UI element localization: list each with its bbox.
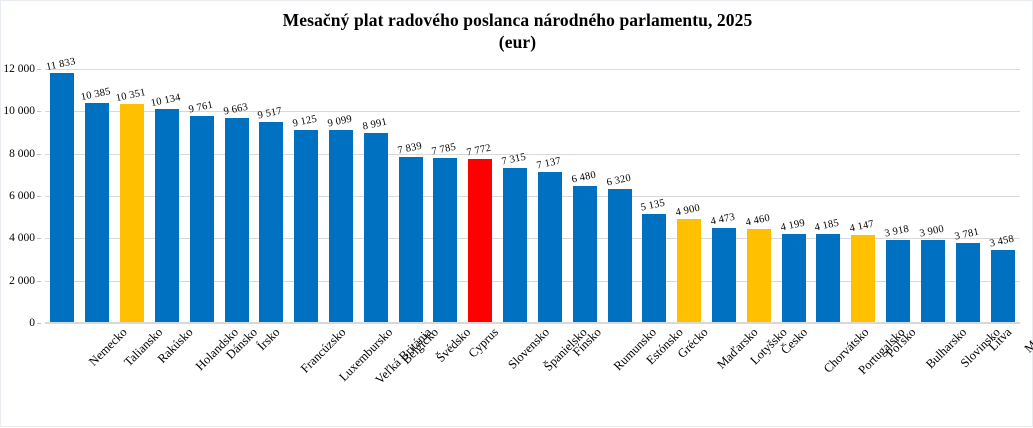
- bar-value-label: 10 351: [115, 87, 147, 104]
- bar-value-label: 4 473: [710, 212, 736, 228]
- y-axis-tick-mark: [37, 111, 41, 112]
- bar-slot: 7 839: [393, 69, 428, 323]
- bar[interactable]: [294, 130, 318, 323]
- bar[interactable]: [259, 122, 283, 323]
- bar-slot: 10 134: [149, 69, 184, 323]
- bar-slot: 3 781: [950, 69, 985, 323]
- bar[interactable]: [642, 214, 666, 323]
- bar-value-label: 8 991: [361, 116, 387, 132]
- bar[interactable]: [399, 157, 423, 323]
- bar-value-label: 4 460: [744, 212, 770, 228]
- bar-slot: 7 315: [498, 69, 533, 323]
- bar-slot: 5 135: [637, 69, 672, 323]
- bar[interactable]: [782, 234, 806, 323]
- bar[interactable]: [468, 159, 492, 324]
- bar[interactable]: [155, 109, 179, 324]
- y-axis-tick-mark: [37, 281, 41, 282]
- bar[interactable]: [712, 228, 736, 323]
- y-axis-tick-label: 6 000: [9, 190, 35, 202]
- bar-value-label: 10 385: [80, 86, 112, 103]
- bar-slot: 4 147: [846, 69, 881, 323]
- x-axis-baseline: [45, 322, 1020, 323]
- bar-slot: 6 480: [567, 69, 602, 323]
- bar[interactable]: [364, 133, 388, 323]
- bar-value-label: 4 147: [849, 219, 875, 235]
- bar-slot: 10 351: [115, 69, 150, 323]
- bar[interactable]: [503, 168, 527, 323]
- y-axis-tick-label: 8 000: [9, 148, 35, 160]
- bar-value-label: 5 135: [640, 198, 666, 214]
- bar-slot: 3 458: [985, 69, 1020, 323]
- bar-value-label: 4 199: [779, 218, 805, 234]
- y-axis-tick-mark: [37, 323, 41, 324]
- y-axis: 02 0004 0006 0008 00010 00012 000: [1, 69, 41, 323]
- y-axis-tick-mark: [37, 196, 41, 197]
- bar-slot: 6 320: [602, 69, 637, 323]
- bar[interactable]: [433, 158, 457, 323]
- y-axis-tick-label: 4 000: [9, 232, 35, 244]
- bar[interactable]: [225, 118, 249, 323]
- bar-value-label: 9 125: [292, 114, 318, 130]
- bar[interactable]: [120, 104, 144, 323]
- bar-slot: 4 900: [672, 69, 707, 323]
- bar-slot: 4 185: [811, 69, 846, 323]
- y-axis-tick-label: 10 000: [3, 105, 35, 117]
- gridline: [45, 323, 1020, 324]
- bar[interactable]: [677, 219, 701, 323]
- bar-slot: 7 785: [428, 69, 463, 323]
- x-axis-tick-label: Cyprus: [466, 325, 502, 361]
- bar-slot: 4 199: [776, 69, 811, 323]
- bar-slot: 9 099: [324, 69, 359, 323]
- bar-slot: 10 385: [80, 69, 115, 323]
- bar-value-label: 3 458: [988, 233, 1014, 249]
- bar[interactable]: [85, 103, 109, 323]
- bar-value-label: 6 480: [570, 170, 596, 186]
- bar-slot: 9 517: [254, 69, 289, 323]
- y-axis-tick-label: 12 000: [3, 63, 35, 75]
- chart-title-main: Mesačný plat radového poslanca národného…: [283, 10, 753, 30]
- plot-area: 11 83310 38510 35110 1349 7619 6639 5179…: [45, 69, 1020, 323]
- bar-value-label: 4 185: [814, 218, 840, 234]
- x-axis: NemeckoTalianskoRakúskoHolandskoDánskoÍr…: [45, 325, 1020, 428]
- bar-value-label: 10 134: [150, 92, 182, 109]
- bar-slot: 11 833: [45, 69, 80, 323]
- x-axis-tick-label: Poľsko: [884, 325, 920, 361]
- bar-value-label: 9 517: [257, 105, 283, 121]
- bar[interactable]: [886, 240, 910, 323]
- bar-chart: Mesačný plat radového poslanca národného…: [0, 0, 1033, 427]
- bar-slot: 3 900: [916, 69, 951, 323]
- bar-value-label: 9 099: [327, 114, 353, 130]
- bar[interactable]: [851, 235, 875, 323]
- bar-slot: 4 460: [741, 69, 776, 323]
- y-axis-tick-label: 2 000: [9, 275, 35, 287]
- bar[interactable]: [538, 172, 562, 323]
- bar-value-label: 4 900: [675, 203, 701, 219]
- x-axis-tick-label: Švédsko: [433, 325, 474, 366]
- bar-value-label: 7 772: [466, 142, 492, 158]
- bar-slot: 7 772: [463, 69, 498, 323]
- bar-value-label: 7 137: [536, 156, 562, 172]
- bar[interactable]: [190, 116, 214, 323]
- bar-value-label: 3 918: [884, 224, 910, 240]
- bar[interactable]: [991, 250, 1015, 323]
- y-axis-tick-mark: [37, 69, 41, 70]
- x-axis-tick-label: Taliansko: [121, 325, 166, 370]
- bar-value-label: 7 839: [396, 141, 422, 157]
- bar-slot: 9 125: [289, 69, 324, 323]
- bar-value-label: 9 761: [187, 100, 213, 116]
- bar[interactable]: [921, 240, 945, 323]
- bar-value-label: 3 781: [953, 227, 979, 243]
- bar-slot: 3 918: [881, 69, 916, 323]
- bar-slot: 9 663: [219, 69, 254, 323]
- bar-value-label: 9 663: [222, 102, 248, 118]
- bar[interactable]: [747, 229, 771, 323]
- bar[interactable]: [573, 186, 597, 323]
- bar-slot: 8 991: [358, 69, 393, 323]
- bar[interactable]: [816, 234, 840, 323]
- bar[interactable]: [956, 243, 980, 323]
- y-axis-tick-mark: [37, 238, 41, 239]
- chart-subtitle: (eur): [499, 32, 536, 52]
- bar[interactable]: [608, 189, 632, 323]
- x-axis-tick-label: Malta: [1021, 325, 1033, 356]
- chart-title: Mesačný plat radového poslanca národného…: [1, 9, 1033, 53]
- y-axis-tick-mark: [37, 154, 41, 155]
- bar-slot: 9 761: [184, 69, 219, 323]
- y-axis-tick-label: 0: [29, 317, 35, 329]
- x-axis-tick-label: Írsko: [254, 325, 283, 354]
- bar[interactable]: [50, 73, 74, 323]
- bar-slot: 7 137: [533, 69, 568, 323]
- bar-value-label: 11 833: [46, 56, 77, 73]
- bar-slot: 4 473: [707, 69, 742, 323]
- bar[interactable]: [329, 130, 353, 323]
- bar-value-label: 7 315: [501, 152, 527, 168]
- bar-value-label: 3 900: [919, 224, 945, 240]
- bar-value-label: 7 785: [431, 142, 457, 158]
- bar-value-label: 6 320: [605, 173, 631, 189]
